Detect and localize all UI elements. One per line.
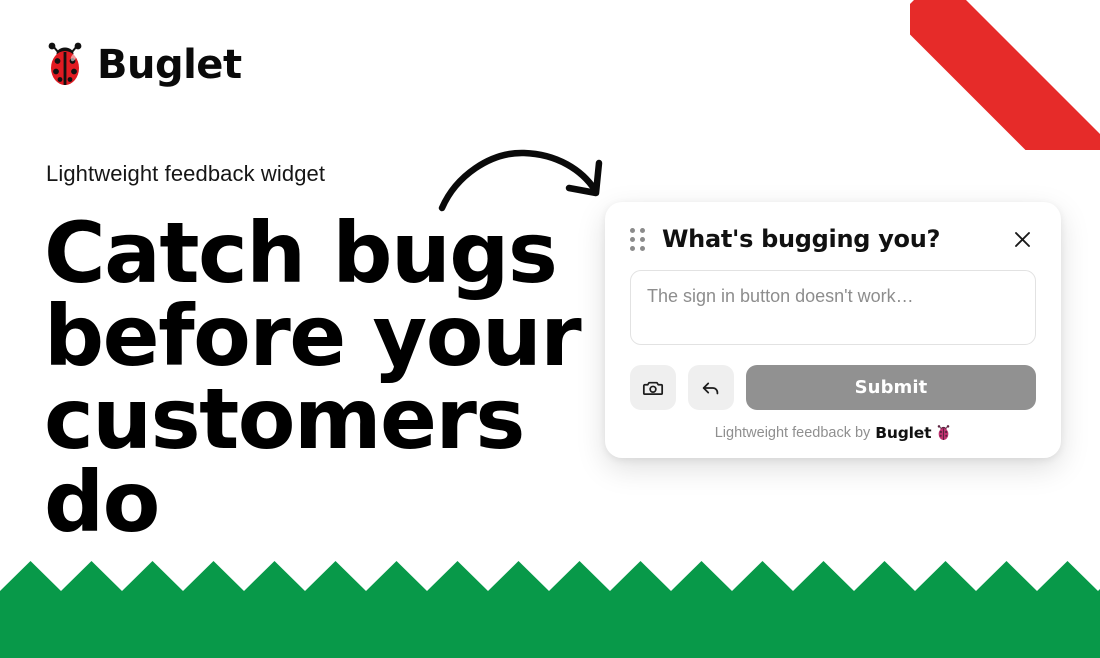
- corner-ribbon-stripe: [910, 0, 1100, 150]
- camera-icon: [642, 377, 664, 399]
- drag-handle-icon[interactable]: [630, 228, 646, 250]
- hero-headline: Catch bugs before your customers do: [44, 212, 604, 545]
- submit-button[interactable]: Submit: [746, 365, 1036, 410]
- footer-brand: Buglet: [875, 424, 931, 442]
- undo-button[interactable]: [688, 365, 734, 410]
- headline-line-1: Catch bugs: [44, 212, 604, 295]
- undo-arrow-icon: [700, 377, 722, 399]
- ladybug-icon: [936, 425, 951, 441]
- screenshot-button[interactable]: [630, 365, 676, 410]
- zigzag-band-decoration: [0, 548, 1100, 658]
- zigzag-shape: [0, 548, 1100, 658]
- headline-line-3: customers do: [44, 378, 604, 544]
- widget-title: What's bugging you?: [662, 225, 1008, 253]
- widget-header: What's bugging you?: [630, 224, 1036, 254]
- feedback-input[interactable]: [630, 270, 1036, 345]
- brand-logo[interactable]: Buglet: [45, 42, 242, 88]
- close-button[interactable]: [1008, 225, 1036, 253]
- widget-action-row: Submit: [630, 365, 1036, 410]
- headline-line-2: before your: [44, 295, 604, 378]
- hero-eyebrow: Lightweight feedback widget: [46, 161, 325, 187]
- widget-footer: Lightweight feedback by Buglet: [630, 424, 1036, 442]
- brand-name: Buglet: [97, 45, 242, 85]
- feedback-widget-card: What's bugging you? Submit Lightweight f…: [605, 202, 1061, 458]
- ladybug-icon: [45, 42, 85, 88]
- corner-ribbon-decoration: [910, 0, 1100, 150]
- close-icon: [1014, 231, 1031, 248]
- footer-prefix: Lightweight feedback by: [715, 425, 871, 441]
